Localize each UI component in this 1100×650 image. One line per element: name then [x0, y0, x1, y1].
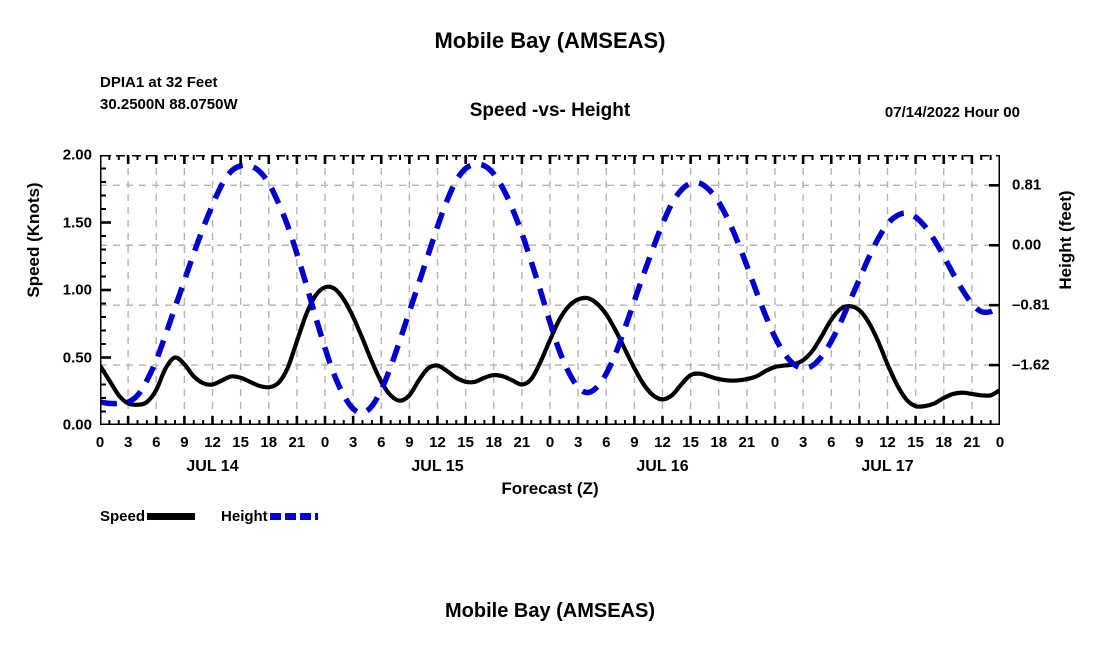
x-axis-tick-label: 15	[232, 434, 249, 451]
x-axis-tick-label: 0	[771, 434, 779, 451]
station-name: DPIA1 at 32 Feet	[100, 72, 238, 94]
chart-page: Mobile Bay (AMSEAS) DPIA1 at 32 Feet 30.…	[0, 0, 1100, 650]
legend-item-height: Height	[221, 508, 318, 525]
y-axis-left-title: Speed (Knots)	[24, 140, 44, 340]
x-axis-tick-label: 21	[514, 434, 531, 451]
x-axis-tick-label: 18	[710, 434, 727, 451]
x-axis-tick-label: 6	[152, 434, 160, 451]
x-axis-tick-label: 0	[96, 434, 104, 451]
page-title: Mobile Bay (AMSEAS)	[0, 28, 1100, 54]
x-axis-tick-label: 9	[630, 434, 638, 451]
y-axis-right-tick-label: –0.81	[1012, 297, 1092, 314]
x-axis-tick-label: 6	[377, 434, 385, 451]
x-axis-tick-label: 21	[289, 434, 306, 451]
legend-label-speed: Speed	[100, 508, 145, 525]
x-axis-tick-label: 3	[349, 434, 357, 451]
x-axis-tick-label: 12	[204, 434, 221, 451]
plot-area	[100, 155, 1000, 425]
x-axis-day-label: JUL 17	[861, 458, 913, 476]
chart-canvas	[100, 155, 1000, 425]
footer-title: Mobile Bay (AMSEAS)	[0, 600, 1100, 623]
x-axis-tick-label: 9	[405, 434, 413, 451]
x-axis-title: Forecast (Z)	[100, 479, 1000, 499]
x-axis-tick-label: 0	[996, 434, 1004, 451]
y-axis-left-tick-label: 1.50	[12, 214, 92, 231]
legend: Speed Height	[100, 508, 318, 525]
x-axis-tick-label: 3	[124, 434, 132, 451]
x-axis-tick-label: 9	[855, 434, 863, 451]
x-axis-tick-label: 0	[546, 434, 554, 451]
x-axis-tick-label: 6	[827, 434, 835, 451]
legend-swatch-height-icon	[270, 513, 318, 520]
y-axis-right-tick-label: 0.00	[1012, 237, 1092, 254]
x-axis-tick-label: 9	[180, 434, 188, 451]
x-axis-tick-label: 12	[654, 434, 671, 451]
x-axis-tick-label: 21	[964, 434, 981, 451]
x-axis-tick-label: 18	[260, 434, 277, 451]
model-run-label: 07/14/2022 Hour 00	[885, 104, 1020, 121]
legend-item-speed: Speed	[100, 508, 221, 525]
x-axis-tick-label: 18	[485, 434, 502, 451]
y-axis-left-tick-label: 1.00	[12, 282, 92, 299]
x-axis-tick-label: 0	[321, 434, 329, 451]
x-axis-tick-label: 12	[879, 434, 896, 451]
x-axis-day-label: JUL 15	[411, 458, 463, 476]
x-axis-tick-label: 15	[682, 434, 699, 451]
x-axis-day-label: JUL 16	[636, 458, 688, 476]
x-axis-tick-label: 15	[907, 434, 924, 451]
x-axis-tick-label: 15	[457, 434, 474, 451]
x-axis-tick-label: 12	[429, 434, 446, 451]
x-axis-tick-label: 6	[602, 434, 610, 451]
y-axis-right-tick-label: –1.62	[1012, 357, 1092, 374]
y-axis-left-tick-label: 0.00	[12, 417, 92, 434]
x-axis-day-label: JUL 14	[186, 458, 238, 476]
x-axis-tick-label: 21	[739, 434, 756, 451]
y-axis-right-tick-label: 0.81	[1012, 177, 1092, 194]
legend-swatch-speed-icon	[147, 513, 195, 520]
x-axis-tick-label: 18	[935, 434, 952, 451]
y-axis-left-tick-label: 2.00	[12, 147, 92, 164]
x-axis-tick-label: 3	[799, 434, 807, 451]
legend-label-height: Height	[221, 508, 268, 525]
x-axis-tick-label: 3	[574, 434, 582, 451]
y-axis-left-tick-label: 0.50	[12, 349, 92, 366]
